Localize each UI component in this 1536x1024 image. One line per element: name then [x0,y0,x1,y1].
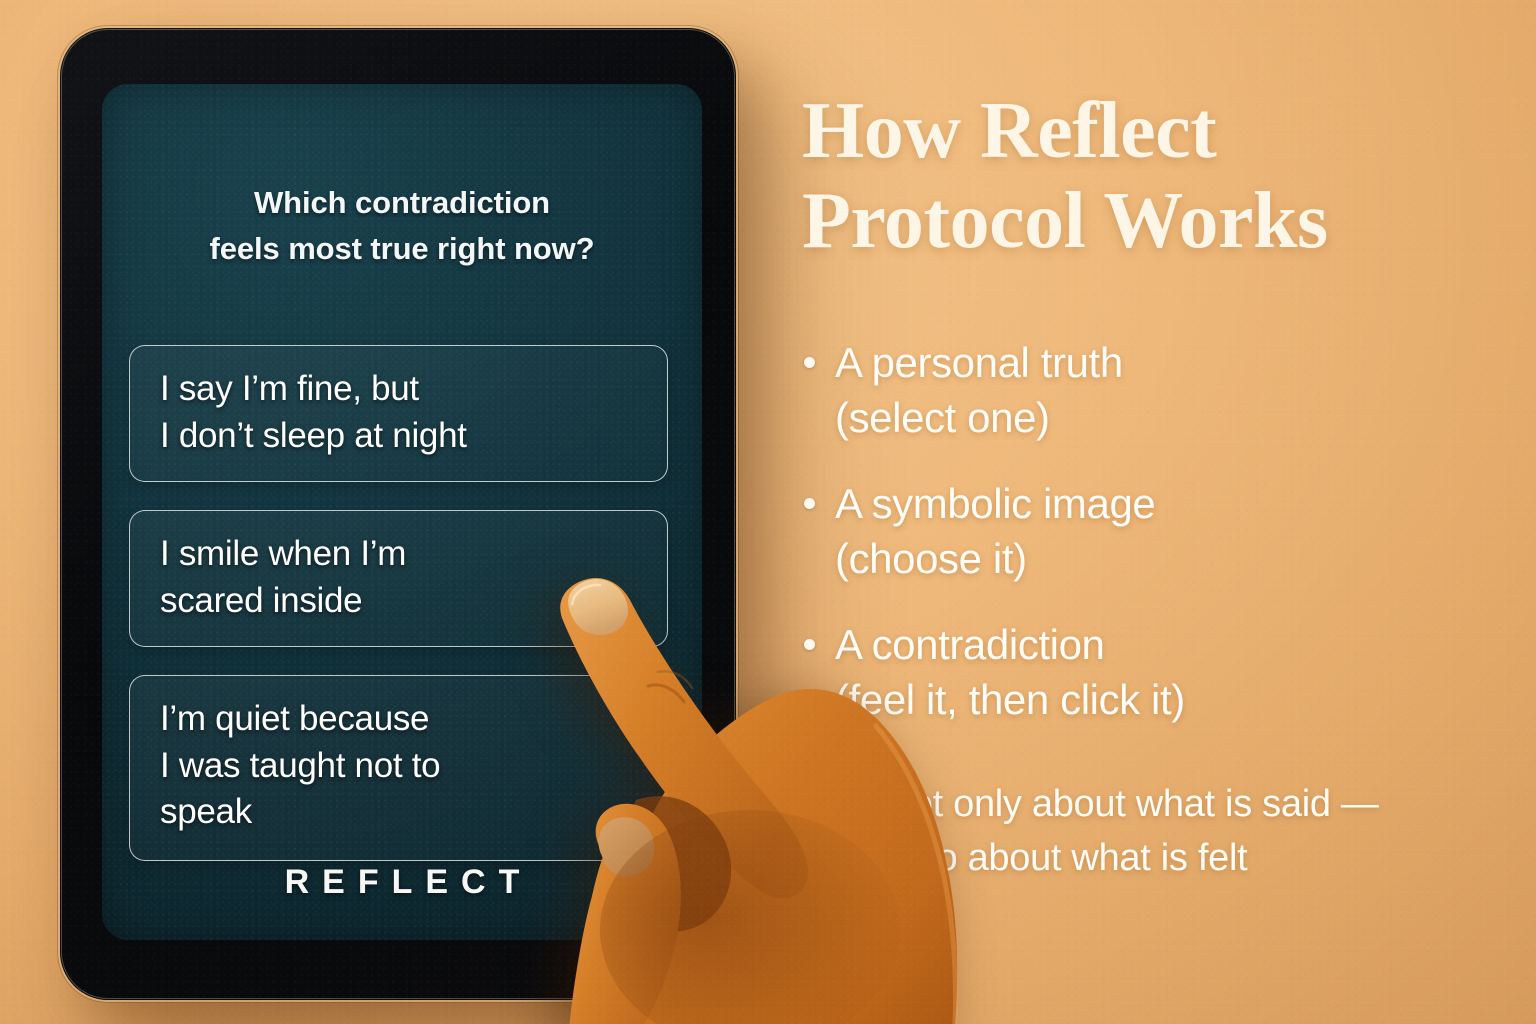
option-card-3[interactable]: I’m quiet because I was taught not to sp… [129,675,668,861]
option-1-line-2: I don’t sleep at night [160,413,641,460]
closing-statement: It’s not only about what is said — it’s … [834,778,1524,886]
closing-line-1: It’s not only about what is said — [834,778,1524,832]
option-1-line-1: I say I’m fine, but [160,366,641,413]
reflect-wordmark: REFLECT [102,863,702,902]
bullet-dot-icon [804,357,815,368]
closing-line-2: it’s also about what is felt [834,832,1524,886]
list-item: A personal truth (select one) [800,335,1500,446]
headline-line-1: How Reflect [802,86,1502,176]
tablet-screen: Which contradiction feels most true righ… [102,84,702,940]
option-3-line-2: I was taught not to [160,743,641,790]
prompt-line-2: feels most true right now? [128,226,676,272]
bullet-dot-icon [804,639,815,650]
tablet-device: Which contradiction feels most true righ… [60,28,736,1000]
bullet-1-text: A personal truth (select one) [835,335,1123,446]
page-title: How Reflect Protocol Works [802,86,1502,267]
headline-line-2: Protocol Works [802,176,1502,266]
prompt-question: Which contradiction feels most true righ… [102,180,702,272]
option-2-line-1: I smile when I’m [160,531,641,578]
bullet-2-text: A symbolic image (choose it) [835,476,1155,587]
option-list: I say I’m fine, but I don’t sleep at nig… [129,345,668,889]
option-3-line-1: I’m quiet because [160,696,641,743]
bullet-1-line-1: A personal truth [835,339,1123,386]
bullet-list: A personal truth (select one) A symbolic… [800,335,1500,758]
bullet-1-line-2: (select one) [835,394,1050,441]
info-panel: How Reflect Protocol Works A personal tr… [796,0,1516,1024]
bullet-3-line-1: A contradiction [835,621,1105,668]
poster-canvas: Which contradiction feels most true righ… [0,0,1536,1024]
bullet-2-line-2: (choose it) [835,535,1027,582]
bullet-3-line-2: (feel it, then click it) [835,676,1185,723]
list-item: A symbolic image (choose it) [800,476,1500,587]
prompt-line-1: Which contradiction [128,180,676,226]
option-card-2[interactable]: I smile when I’m scared inside [129,510,668,647]
bullet-3-text: A contradiction (feel it, then click it) [835,617,1185,728]
bullet-dot-icon [804,498,815,509]
option-3-line-3: speak [160,789,641,836]
list-item: A contradiction (feel it, then click it) [800,617,1500,728]
option-card-1[interactable]: I say I’m fine, but I don’t sleep at nig… [129,345,668,482]
option-2-line-2: scared inside [160,578,641,625]
bullet-2-line-1: A symbolic image [835,480,1155,527]
